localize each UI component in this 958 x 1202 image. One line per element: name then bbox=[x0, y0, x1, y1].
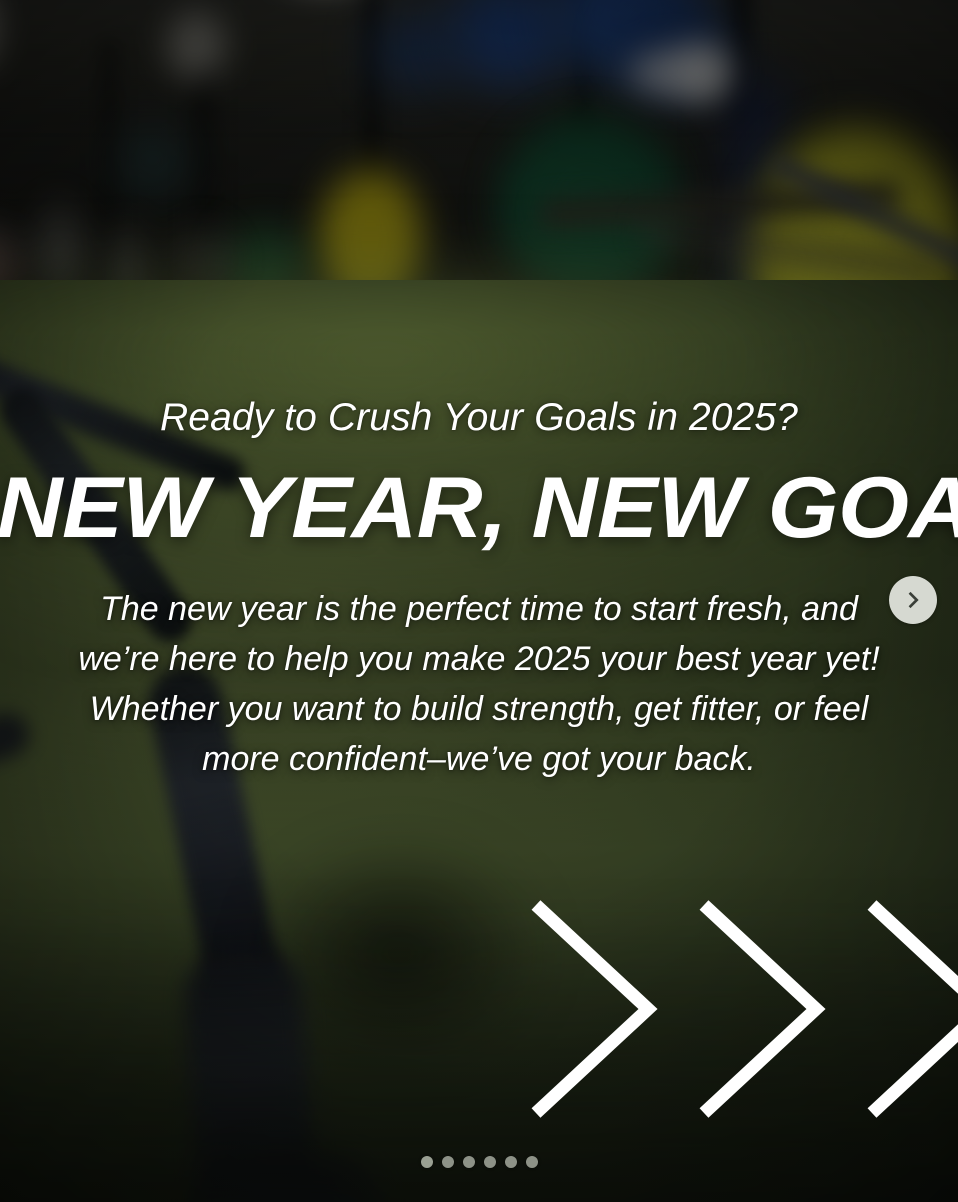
pagination-dot-4[interactable] bbox=[484, 1156, 496, 1168]
slide-eyebrow: Ready to Crush Your Goals in 2025? bbox=[24, 398, 934, 437]
pagination-dot-2[interactable] bbox=[442, 1156, 454, 1168]
pagination-dot-1[interactable] bbox=[421, 1156, 433, 1168]
next-slide-button[interactable] bbox=[889, 576, 937, 624]
pagination-dot-3[interactable] bbox=[463, 1156, 475, 1168]
slide-copy: Ready to Crush Your Goals in 2025? NEW Y… bbox=[0, 398, 958, 785]
pagination-dots bbox=[0, 1156, 958, 1168]
slide-headline: NEW YEAR, NEW GOALS bbox=[0, 467, 958, 550]
body-line: we’re here to help you make 2025 your be… bbox=[78, 640, 879, 678]
hero-slide: Ready to Crush Your Goals in 2025? NEW Y… bbox=[0, 0, 958, 1202]
body-line: more confident–we’ve got your back. bbox=[202, 740, 756, 778]
body-line: Whether you want to build strength, get … bbox=[90, 690, 869, 728]
slide-body-text: The new year is the perfect time to star… bbox=[39, 584, 919, 785]
chevron-right-icon bbox=[903, 590, 923, 610]
pagination-dot-5[interactable] bbox=[505, 1156, 517, 1168]
body-line: The new year is the perfect time to star… bbox=[100, 590, 858, 628]
pagination-dot-6[interactable] bbox=[526, 1156, 538, 1168]
